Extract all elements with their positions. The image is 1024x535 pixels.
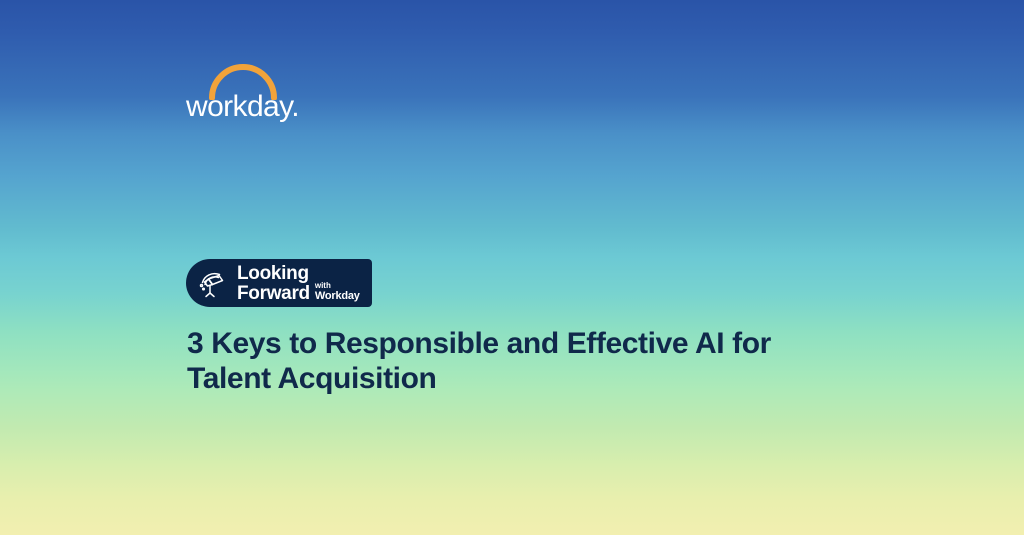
headline-line-1: 3 Keys to Responsible and Effective AI f… [187, 329, 787, 359]
telescope-icon [196, 266, 230, 300]
headline-line-2: Talent Acquisition [187, 364, 787, 394]
badge-main-lines: Looking Forward [237, 264, 310, 303]
badge-line-looking: Looking [237, 264, 310, 283]
looking-forward-badge: Looking Forward with Workday [186, 259, 372, 307]
slide-canvas: workday. Looking Forward w [0, 0, 1024, 535]
badge-workday-label: Workday [315, 291, 360, 302]
workday-logo: workday. [186, 64, 316, 118]
badge-line-forward: Forward [237, 284, 310, 303]
workday-wordmark: workday. [186, 92, 316, 122]
badge-with-label: with [315, 282, 360, 290]
badge-text: Looking Forward with Workday [237, 264, 360, 303]
badge-with-workday: with Workday [315, 282, 360, 302]
workday-wordmark-text: workday [186, 90, 291, 123]
page-title: 3 Keys to Responsible and Effective AI f… [187, 329, 787, 399]
workday-wordmark-dot: . [291, 90, 299, 123]
